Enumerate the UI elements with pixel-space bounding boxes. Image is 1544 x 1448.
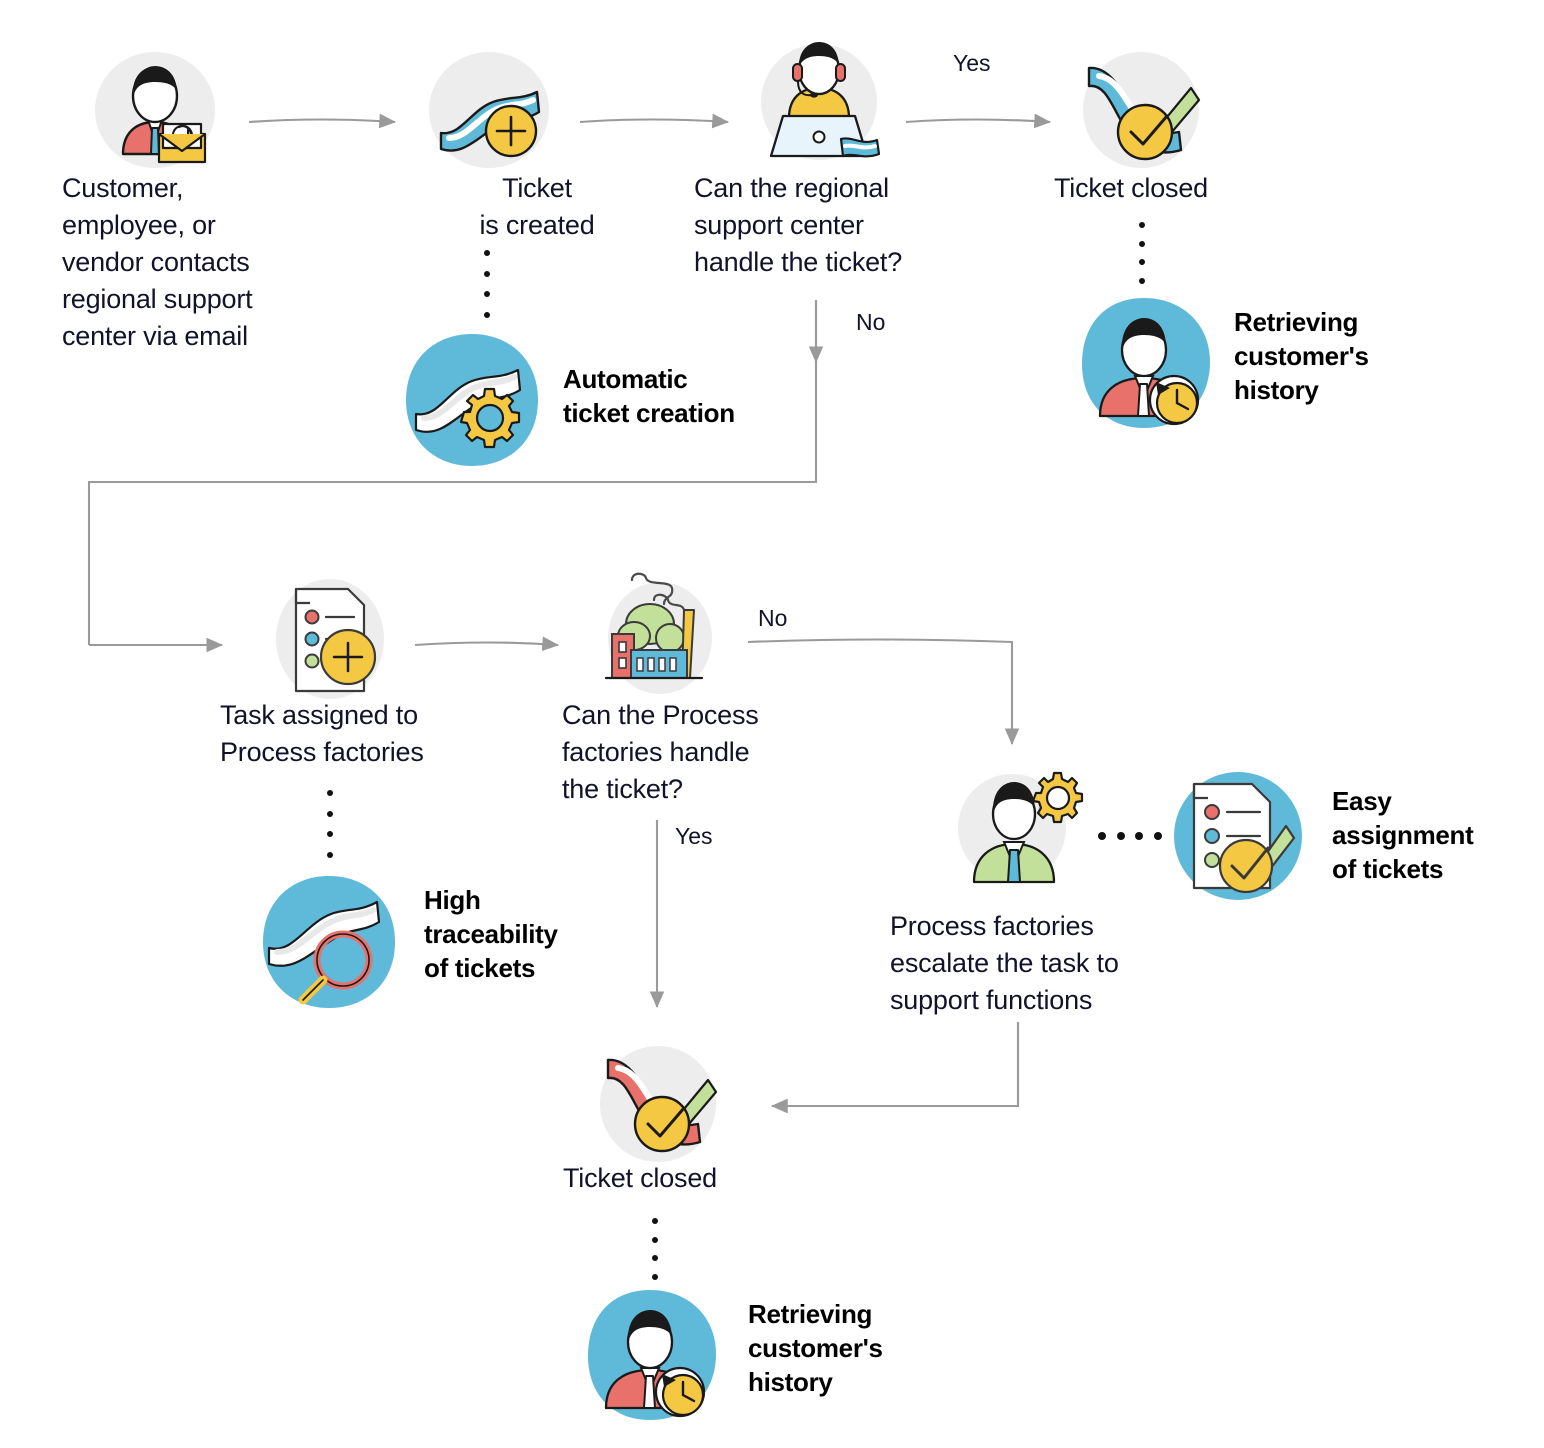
person-gear-icon: [952, 768, 1088, 892]
callout-label-retrieving-history-top: Retrieving customer's history: [1234, 305, 1484, 407]
ribbon-check-red-icon: [592, 1042, 732, 1170]
factory-icon: [598, 568, 722, 704]
edge-label-yes-top: Yes: [953, 49, 991, 77]
dotted-connector-easy-assignment: [1098, 832, 1162, 840]
edge-label-yes-row2: Yes: [675, 822, 713, 850]
ribbon-plus-icon: [427, 48, 551, 172]
node-label-ticket-closed-top: Ticket closed: [1054, 170, 1314, 207]
node-label-regional-decision: Can the regional support center handle t…: [694, 170, 994, 281]
person-clock-icon: [1078, 296, 1214, 432]
node-label-factory-decision: Can the Process factories handle the tic…: [562, 697, 852, 808]
dotted-connector-ticket-closed-bottom: [652, 1218, 658, 1280]
node-label-customer-contact: Customer, employee, or vendor contacts r…: [62, 170, 352, 355]
edge-escalate-to-closed: [772, 1022, 1018, 1106]
agent-headset-laptop-icon: [757, 36, 881, 170]
document-check-icon: [1170, 768, 1306, 904]
edge-decision-yes: [906, 120, 1050, 123]
edge-customer-to-ticket: [249, 120, 395, 123]
ribbon-check-blue-icon: [1073, 48, 1213, 176]
callout-label-retrieving-history-bottom: Retrieving customer's history: [748, 1297, 998, 1399]
node-label-ticket-created: Ticket is created: [422, 170, 652, 244]
node-label-escalate: Process factories escalate the task to s…: [890, 908, 1190, 1019]
node-label-ticket-closed-bottom: Ticket closed: [563, 1160, 823, 1197]
person-email-icon: [93, 48, 217, 172]
dotted-connector-ticket-created: [484, 250, 490, 318]
callout-label-automatic-ticket-creation: Automatic ticket creation: [563, 362, 833, 430]
dotted-connector-ticket-closed-top: [1139, 222, 1145, 284]
dotted-connector-task-assigned: [327, 790, 333, 858]
edge-label-no-row2: No: [758, 604, 787, 632]
edge-task-to-factory: [415, 643, 558, 646]
node-label-task-assigned: Task assigned to Process factories: [220, 697, 520, 771]
edge-ticket-to-decision: [580, 120, 728, 123]
ribbon-magnifier-icon: [259, 872, 399, 1012]
flowchart-canvas: Customer, employee, or vendor contacts r…: [0, 0, 1544, 1448]
edge-label-no-top: No: [856, 308, 885, 336]
callout-label-easy-assignment: Easy assignment of tickets: [1332, 784, 1544, 886]
ribbon-gear-icon: [402, 330, 542, 470]
document-plus-icon: [268, 575, 392, 705]
callout-label-high-traceability: High traceability of tickets: [424, 883, 674, 985]
person-clock-icon: [584, 1288, 720, 1424]
